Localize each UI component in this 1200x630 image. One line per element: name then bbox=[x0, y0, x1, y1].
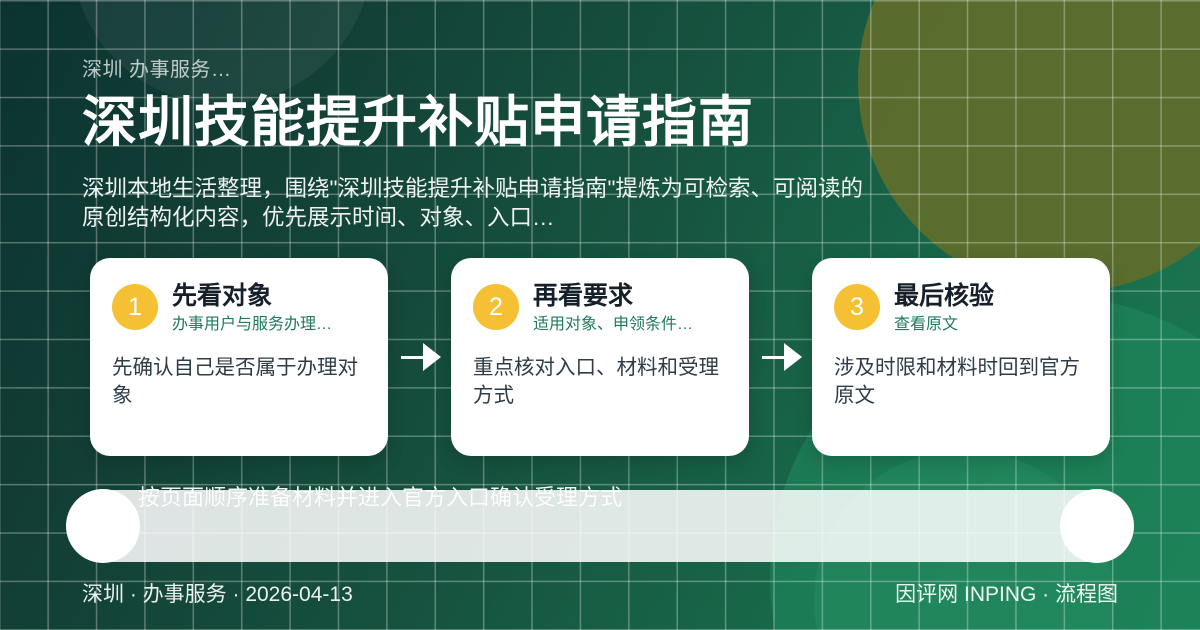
footer-left: 深圳 · 办事服务 · 2026-04-13 bbox=[82, 578, 353, 608]
step-subtitle-1: 办事用户与服务办理… bbox=[172, 315, 366, 334]
steps-row: 1 先看对象 办事用户与服务办理… 先确认自己是否属于办理对象 2 再看要求 适… bbox=[90, 258, 1110, 456]
step-card-2[interactable]: 2 再看要求 适用对象、申领条件… 重点核对入口、材料和受理方式 bbox=[451, 258, 749, 456]
summary-banner-knob-right bbox=[1060, 489, 1134, 563]
step-card-1-head: 1 先看对象 办事用户与服务办理… bbox=[112, 282, 366, 334]
step-title-3: 最后核验 bbox=[894, 282, 1088, 310]
step-card-1-headtext: 先看对象 办事用户与服务办理… bbox=[172, 282, 366, 334]
step-subtitle-3: 查看原文 bbox=[894, 315, 1088, 334]
summary-banner-knob-left bbox=[66, 489, 140, 563]
poster-canvas: 深圳 办事服务… 深圳技能提升补贴申请指南 深圳本地生活整理，围绕"深圳技能提升… bbox=[0, 0, 1200, 630]
step-card-2-headtext: 再看要求 适用对象、申领条件… bbox=[533, 282, 727, 334]
summary-banner: 按页面顺序准备材料并进入官方入口确认受理方式 bbox=[92, 490, 1108, 562]
header: 深圳 办事服务… 深圳技能提升补贴申请指南 深圳本地生活整理，围绕"深圳技能提升… bbox=[82, 58, 1122, 233]
step-title-2: 再看要求 bbox=[533, 282, 727, 310]
step-card-3-head: 3 最后核验 查看原文 bbox=[834, 282, 1088, 334]
footer-right: 因评网 INPING · 流程图 bbox=[895, 578, 1118, 608]
page-subtitle: 深圳本地生活整理，围绕"深圳技能提升补贴申请指南"提炼为可检索、可阅读的原创结构… bbox=[82, 174, 882, 233]
breadcrumb: 深圳 办事服务… bbox=[82, 58, 1122, 82]
arrow-right-icon-2 bbox=[749, 258, 812, 456]
footer: 深圳 · 办事服务 · 2026-04-13 因评网 INPING · 流程图 bbox=[82, 578, 1118, 608]
step-card-3-headtext: 最后核验 查看原文 bbox=[894, 282, 1088, 334]
step-subtitle-2: 适用对象、申领条件… bbox=[533, 315, 727, 334]
step-card-3[interactable]: 3 最后核验 查看原文 涉及时限和材料时回到官方原文 bbox=[812, 258, 1110, 456]
step-body-2: 重点核对入口、材料和受理方式 bbox=[473, 354, 727, 410]
step-body-1: 先确认自己是否属于办理对象 bbox=[112, 354, 366, 410]
step-number-badge-2: 2 bbox=[473, 284, 519, 330]
step-title-1: 先看对象 bbox=[172, 282, 366, 310]
step-card-1[interactable]: 1 先看对象 办事用户与服务办理… 先确认自己是否属于办理对象 bbox=[90, 258, 388, 456]
arrow-shaft-2 bbox=[762, 356, 788, 359]
step-card-2-head: 2 再看要求 适用对象、申领条件… bbox=[473, 282, 727, 334]
step-number-badge-1: 1 bbox=[112, 284, 158, 330]
arrow-right-icon-1 bbox=[388, 258, 451, 456]
step-body-3: 涉及时限和材料时回到官方原文 bbox=[834, 354, 1088, 410]
summary-banner-text: 按页面顺序准备材料并进入官方入口确认受理方式 bbox=[138, 484, 1038, 513]
page-title: 深圳技能提升补贴申请指南 bbox=[82, 92, 1122, 154]
arrow-shaft-1 bbox=[401, 356, 427, 359]
step-number-badge-3: 3 bbox=[834, 284, 880, 330]
